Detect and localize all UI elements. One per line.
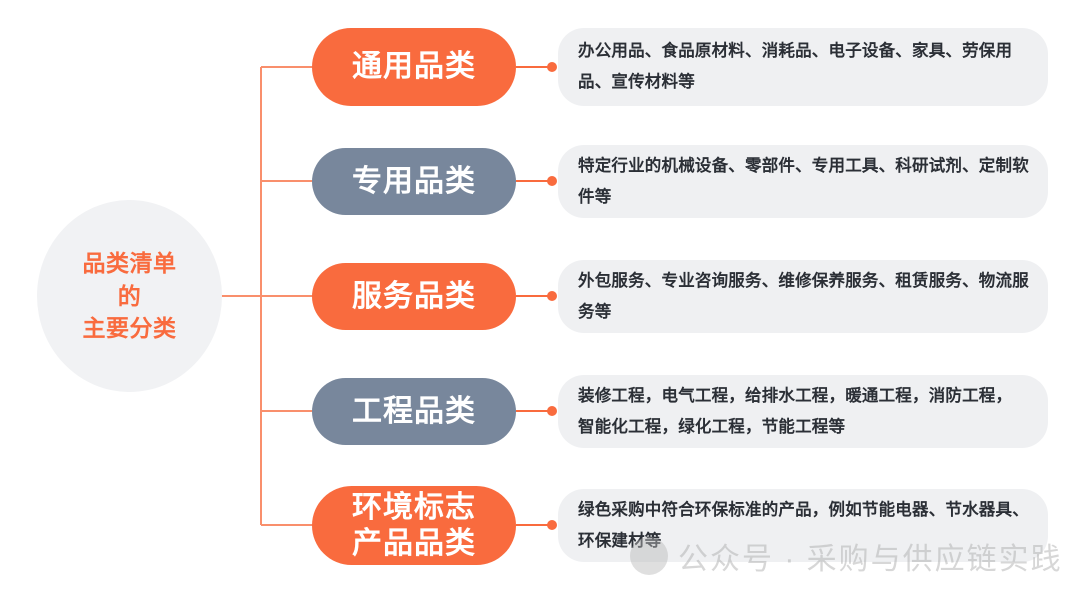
category-pill-specialized[interactable]: 专用品类 [312,148,516,215]
category-pill-general[interactable]: 通用品类 [312,28,516,106]
category-pill-service[interactable]: 服务品类 [312,263,516,330]
category-description-text: 外包服务、专业咨询服务、维修保养服务、租赁服务、物流服务等 [558,266,1048,327]
category-description-text: 办公用品、食品原材料、消耗品、电子设备、家具、劳保用品、宣传材料等 [558,36,1048,97]
category-description-general: 办公用品、食品原材料、消耗品、电子设备、家具、劳保用品、宣传材料等 [558,28,1048,106]
category-description-eco-label: 绿色采购中符合环保标准的产品，例如节能电器、节水器具、环保建材等 [558,489,1048,562]
category-pill-engineering[interactable]: 工程品类 [312,378,516,445]
category-description-text: 装修工程，电气工程，给排水工程，暖通工程，消防工程， 智能化工程，绿化工程，节能… [558,381,1048,442]
category-description-text: 绿色采购中符合环保标准的产品，例如节能电器、节水器具、环保建材等 [558,495,1048,556]
category-description-specialized: 特定行业的机械设备、零部件、专用工具、科研试剂、定制软件等 [558,145,1048,218]
category-pill-label: 工程品类 [352,394,476,429]
diagram-canvas: 品类清单 的 主要分类 通用品类 办公用品、食品原材料、消耗品、电子设备、家具、… [0,0,1080,590]
category-pill-label: 服务品类 [352,279,476,314]
root-node-label: 品类清单 的 主要分类 [83,247,177,345]
category-pill-eco-label[interactable]: 环境标志 产品品类 [312,486,516,565]
category-pill-label: 专用品类 [352,164,476,199]
root-node: 品类清单 的 主要分类 [37,200,222,392]
category-description-service: 外包服务、专业咨询服务、维修保养服务、租赁服务、物流服务等 [558,260,1048,333]
category-pill-label: 环境标志 产品品类 [352,490,476,561]
category-pill-label: 通用品类 [352,49,476,84]
category-description-text: 特定行业的机械设备、零部件、专用工具、科研试剂、定制软件等 [558,151,1048,212]
category-description-engineering: 装修工程，电气工程，给排水工程，暖通工程，消防工程， 智能化工程，绿化工程，节能… [558,375,1048,448]
